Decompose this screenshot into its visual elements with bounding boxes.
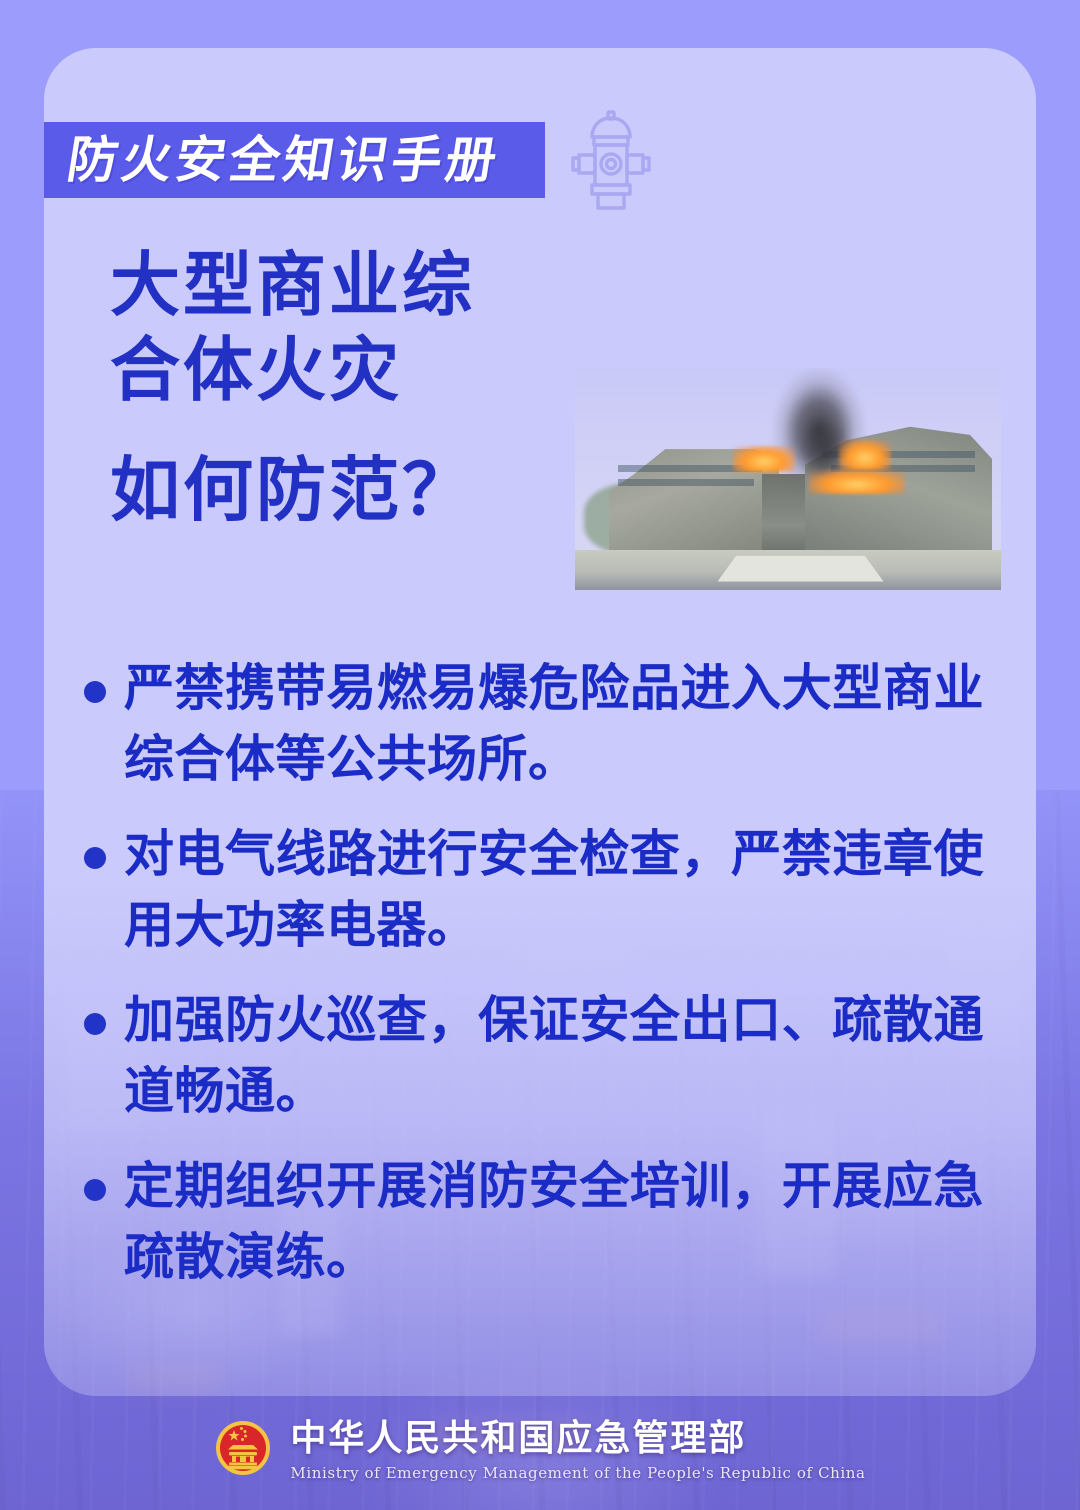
title-line-3: 如何防范？ <box>110 447 630 532</box>
organization-name-en: Ministry of Emergency Management of the … <box>290 1464 865 1482</box>
national-emblem-icon <box>214 1419 272 1482</box>
content-card: 防火安全知识手册 <box>44 48 1036 1396</box>
list-item-text: 严禁携带易燃易爆危险品进入大型商业综合体等公共场所。 <box>124 653 984 795</box>
organization-name-cn: 中华人民共和国应急管理部 <box>290 1418 865 1458</box>
fire-safety-poster: 防火安全知识手册 <box>0 0 1080 1510</box>
list-item: 定期组织开展消防安全培训，开展应急疏散演练。 <box>84 1151 1004 1293</box>
safety-tips-list: 严禁携带易燃易爆危险品进入大型商业综合体等公共场所。 对电气线路进行安全检查，严… <box>84 653 1004 1317</box>
footer-text-group: 中华人民共和国应急管理部 Ministry of Emergency Manag… <box>290 1418 865 1483</box>
poster-title: 大型商业综 合体火灾 如何防范？ <box>110 242 630 532</box>
list-item-text: 定期组织开展消防安全培训，开展应急疏散演练。 <box>124 1151 984 1293</box>
title-line-2: 合体火灾 <box>110 327 630 412</box>
list-item: 加强防火巡查，保证安全出口、疏散通道畅通。 <box>84 985 1004 1127</box>
header-banner-label: 防火安全知识手册 <box>64 135 504 185</box>
title-line-1: 大型商业综 <box>110 242 630 327</box>
bullet-dot-icon <box>84 847 106 869</box>
list-item-text: 加强防火巡查，保证安全出口、疏散通道畅通。 <box>124 985 984 1127</box>
header: 防火安全知识手册 <box>44 122 1036 198</box>
bullet-dot-icon <box>84 1179 106 1201</box>
list-item: 对电气线路进行安全检查，严禁违章使用大功率电器。 <box>84 819 1004 961</box>
list-item-text: 对电气线路进行安全检查，严禁违章使用大功率电器。 <box>124 819 984 961</box>
list-item: 严禁携带易燃易爆危险品进入大型商业综合体等公共场所。 <box>84 653 1004 795</box>
bullet-dot-icon <box>84 1013 106 1035</box>
burning-building-photo <box>575 368 1001 590</box>
footer: 中华人民共和国应急管理部 Ministry of Emergency Manag… <box>0 1402 1080 1498</box>
bullet-dot-icon <box>84 681 106 703</box>
fire-hydrant-icon <box>568 107 654 218</box>
